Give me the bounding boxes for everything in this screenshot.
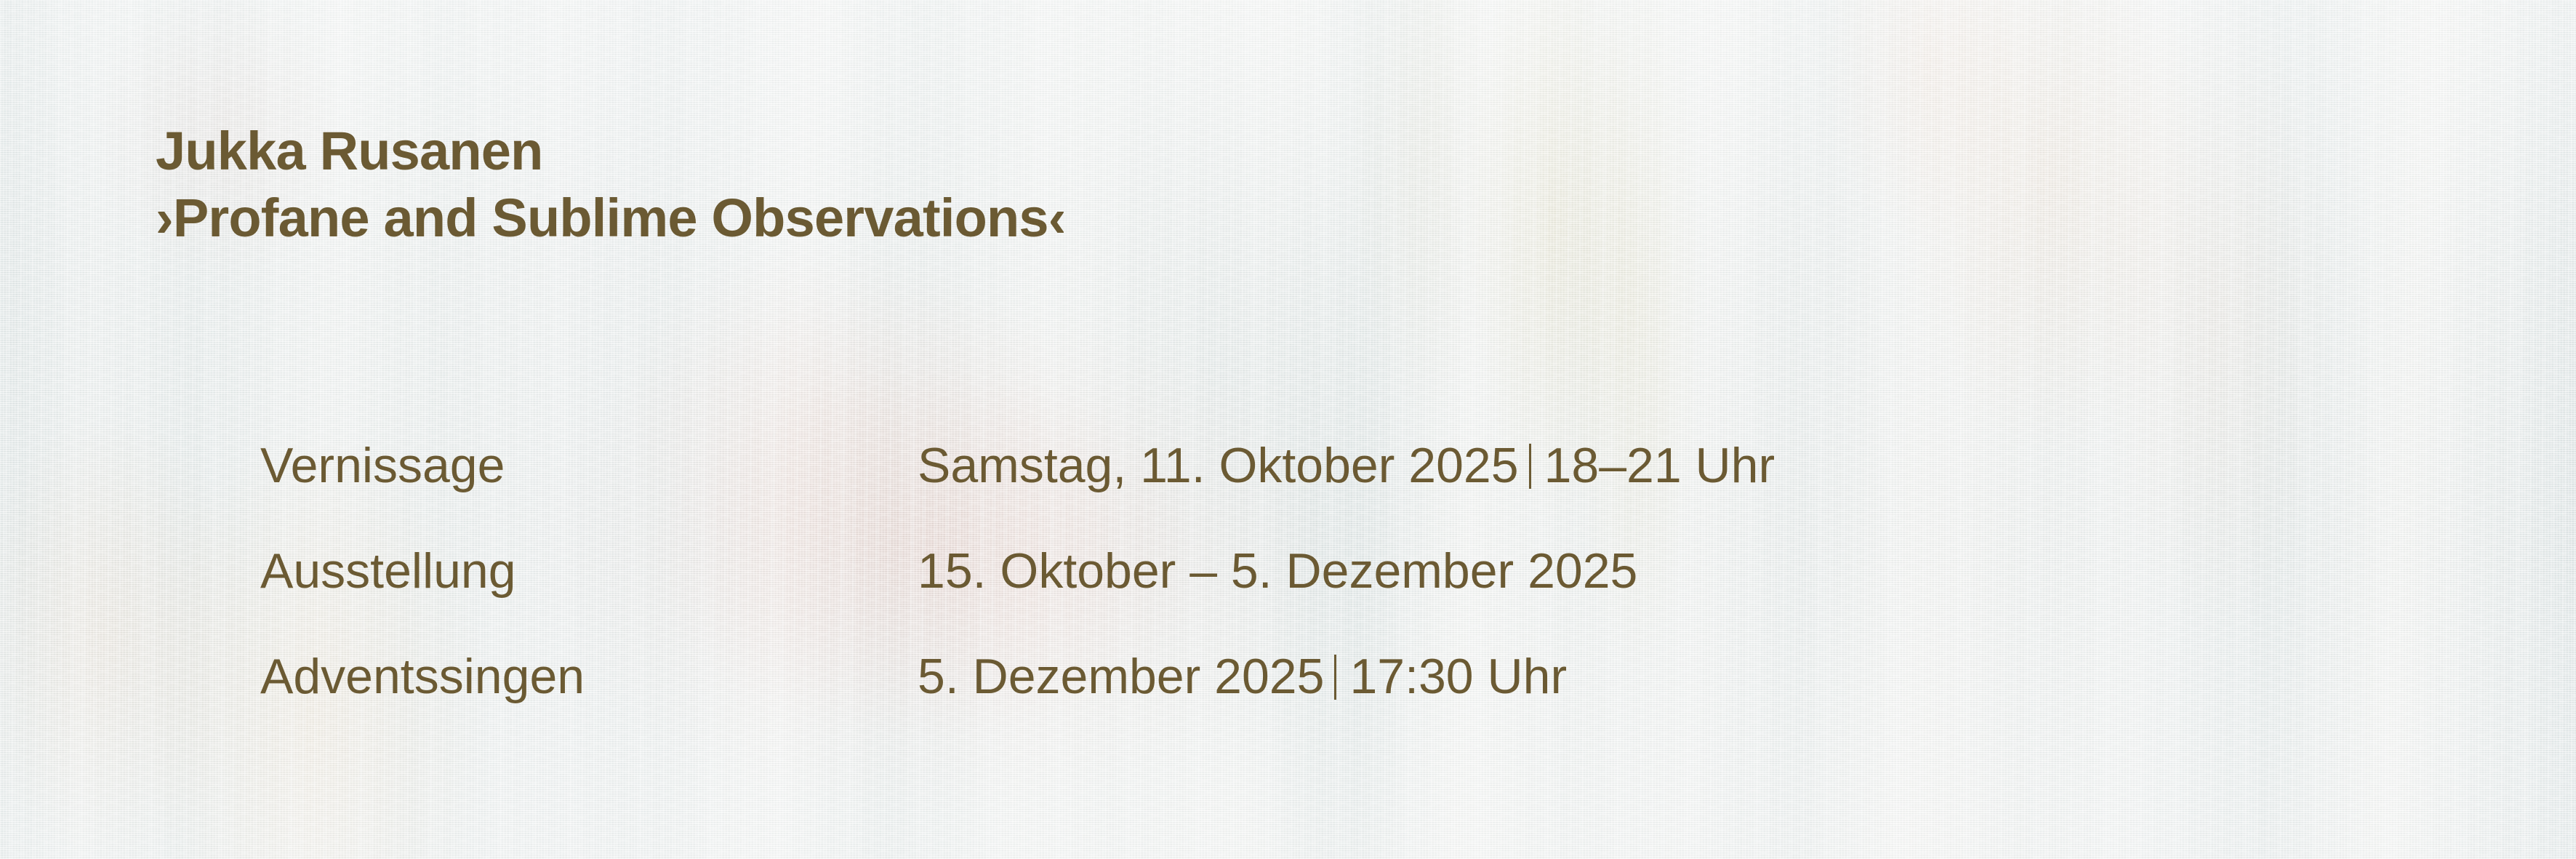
event-details-table: Vernissage Samstag, 11. Oktober 202518–2… [260, 413, 1775, 730]
table-row: Adventssingen 5. Dezember 202517:30 Uhr [260, 624, 1775, 730]
detail-label-adventssingen: Adventssingen [260, 624, 918, 730]
detail-value-adventssingen: 5. Dezember 202517:30 Uhr [918, 624, 1775, 730]
detail-label-vernissage: Vernissage [260, 413, 918, 519]
detail-label-ausstellung: Ausstellung [260, 519, 918, 624]
detail-value-vernissage: Samstag, 11. Oktober 202518–21 Uhr [918, 413, 1775, 519]
value-separator-icon [1334, 655, 1336, 700]
detail-value-date: 15. Oktober – 5. Dezember 2025 [918, 543, 1637, 599]
table-row: Vernissage Samstag, 11. Oktober 202518–2… [260, 413, 1775, 519]
table-row: Ausstellung 15. Oktober – 5. Dezember 20… [260, 519, 1775, 624]
detail-value-date: Samstag, 11. Oktober 2025 [918, 438, 1519, 493]
exhibition-title: ›Profane and Sublime Observations‹ [156, 191, 1066, 245]
detail-value-time: 17:30 Uhr [1349, 649, 1567, 704]
detail-value-ausstellung: 15. Oktober – 5. Dezember 2025 [918, 519, 1775, 624]
poster-heading: Jukka Rusanen ›Profane and Sublime Obser… [156, 124, 1066, 246]
value-separator-icon [1529, 444, 1531, 489]
detail-value-time: 18–21 Uhr [1544, 438, 1775, 493]
detail-value-date: 5. Dezember 2025 [918, 649, 1324, 704]
poster-content: Jukka Rusanen ›Profane and Sublime Obser… [0, 0, 2576, 859]
exhibition-poster: Jukka Rusanen ›Profane and Sublime Obser… [0, 0, 2576, 859]
artist-name: Jukka Rusanen [156, 124, 1066, 178]
